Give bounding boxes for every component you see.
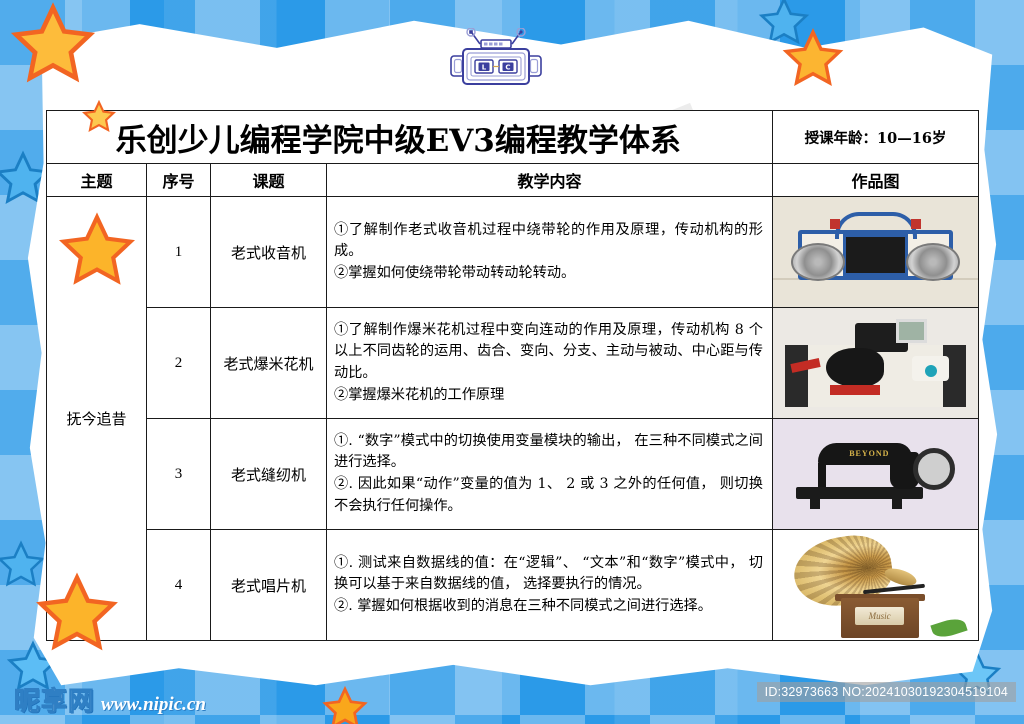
table-row: 4 老式唱片机 ①. 测试来自数据线的值：在“逻辑”、 “文本”和“数字”模式中… (47, 530, 979, 641)
content-line: ②掌握如何使绕带轮带动转动轮转动。 (334, 263, 763, 285)
row-seq: 3 (147, 419, 211, 530)
column-header-artwork: 作品图 (773, 164, 979, 197)
row-seq: 4 (147, 530, 211, 641)
sewing-machine-brand: BEYOND (843, 449, 896, 458)
site-url: www.nipic.cn (101, 694, 206, 718)
table-title-row: 乐创少儿编程学院中级EV3编程教学体系 授课年龄：10—16岁 (47, 111, 979, 164)
table-header-row: 主题 序号 课题 教学内容 作品图 (47, 164, 979, 197)
column-header-theme: 主题 (47, 164, 147, 197)
row-artwork: BEYOND (773, 419, 979, 530)
curriculum-table-container: 乐创少儿编程学院中级EV3编程教学体系 授课年龄：10—16岁 主题 序号 课题… (46, 110, 978, 641)
gramophone-label: Music (855, 607, 904, 625)
star-orange-row1-theme (52, 212, 142, 290)
row-artwork (773, 308, 979, 419)
content-line: ①. “数字”模式中的切换使用变量模块的输出， 在三种不同模式之间进行选择。 (334, 431, 763, 474)
star-orange-top-right (782, 28, 844, 90)
artwork-image-popcorn (773, 308, 978, 418)
row-content: ①了解制作爆米花机过程中变向连动的作用及原理，传动机构 8 个以上不同齿轮的运用… (327, 308, 773, 419)
robot-logo-icon: L C (446, 28, 546, 90)
artwork-image-gramophone: Music (773, 530, 978, 640)
curriculum-table: 乐创少儿编程学院中级EV3编程教学体系 授课年龄：10—16岁 主题 序号 课题… (46, 110, 979, 641)
image-id-badge: ID:32973663 NO:20241030192304519104 (757, 682, 1016, 702)
star-orange-title-left (82, 100, 116, 134)
row-content: ①了解制作老式收音机过程中绕带轮的作用及原理，传动机构的形成。 ②掌握如何使绕带… (327, 197, 773, 308)
table-row: 2 老式爆米花机 ①了解制作爆米花机过程中变向连动的作用及原理，传动机构 8 个… (47, 308, 979, 419)
column-header-seq: 序号 (147, 164, 211, 197)
site-watermark-footer: 昵享网 www.nipic.cn (14, 681, 206, 718)
site-name-zh: 昵享网 (14, 681, 95, 718)
row-content: ①. “数字”模式中的切换使用变量模块的输出， 在三种不同模式之间进行选择。 ②… (327, 419, 773, 530)
row-artwork: Music (773, 530, 979, 641)
content-line: ②. 因此如果“动作”变量的值为 1、 2 或 3 之外的任何值， 则切换不会执… (334, 474, 763, 517)
artwork-image-sewing-machine: BEYOND (773, 419, 978, 529)
star-orange-top-left (10, 2, 96, 88)
content-line: ①. 测试来自数据线的值：在“逻辑”、 “文本”和“数字”模式中， 切换可以基于… (334, 553, 763, 596)
content-line: ①了解制作老式收音机过程中绕带轮的作用及原理，传动机构的形成。 (334, 220, 763, 263)
row-lesson: 老式缝纫机 (211, 419, 327, 530)
age-range-label: 授课年龄：10—16岁 (773, 111, 979, 164)
row-seq: 1 (147, 197, 211, 308)
row-lesson: 老式唱片机 (211, 530, 327, 641)
svg-text:L: L (482, 64, 487, 72)
row-lesson: 老式收音机 (211, 197, 327, 308)
row-seq: 2 (147, 308, 211, 419)
page-title: 乐创少儿编程学院中级EV3编程教学体系 (116, 115, 681, 160)
title-cell: 乐创少儿编程学院中级EV3编程教学体系 (47, 111, 773, 164)
row-lesson: 老式爆米花机 (211, 308, 327, 419)
column-header-lesson: 课题 (211, 164, 327, 197)
svg-text:C: C (505, 64, 510, 72)
star-blue-decor-bottom-mid (322, 686, 368, 724)
table-row: 3 老式缝纫机 ①. “数字”模式中的切换使用变量模块的输出， 在三种不同模式之… (47, 419, 979, 530)
content-line: ①了解制作爆米花机过程中变向连动的作用及原理，传动机构 8 个以上不同齿轮的运用… (334, 320, 763, 385)
row-artwork (773, 197, 979, 308)
artwork-image-radio (773, 197, 978, 307)
row-content: ①. 测试来自数据线的值：在“逻辑”、 “文本”和“数字”模式中， 切换可以基于… (327, 530, 773, 641)
content-line: ②掌握爆米花机的工作原理 (334, 385, 763, 407)
table-row: 抚今追昔 1 老式收音机 ①了解制作老式收音机过程中绕带轮的作用及原理，传动机构… (47, 197, 979, 308)
content-line: ②. 掌握如何根据收到的消息在三种不同模式之间进行选择。 (334, 596, 763, 618)
column-header-content: 教学内容 (327, 164, 773, 197)
star-orange-row4-theme (30, 572, 124, 656)
